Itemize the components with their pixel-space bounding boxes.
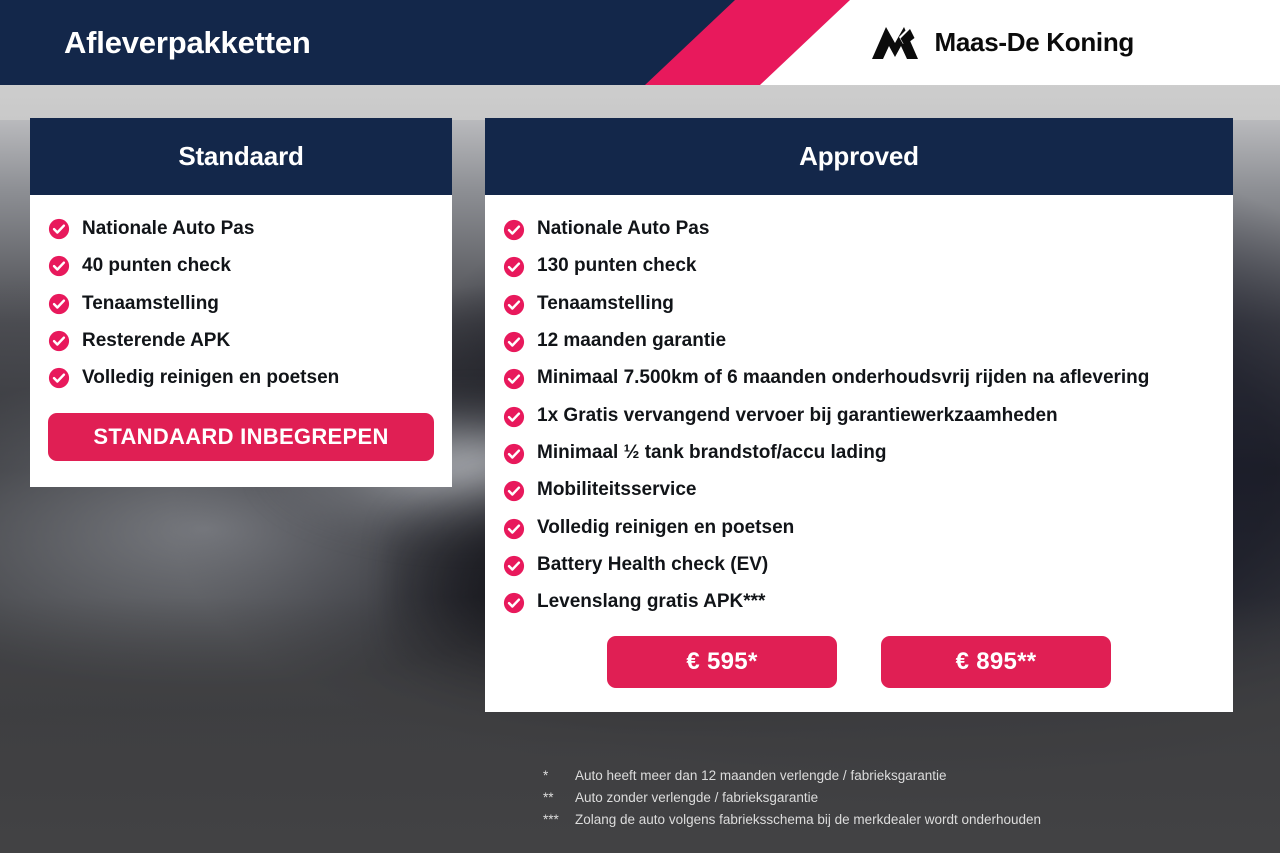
check-circle-icon (503, 406, 525, 428)
feature-item: Tenaamstelling (48, 292, 434, 316)
check-circle-icon (48, 255, 70, 277)
package-card-standaard: Standaard Nationale Auto Pas40 punten ch… (30, 118, 452, 487)
feature-label: Volledig reinigen en poetsen (537, 516, 794, 540)
feature-label: Levenslang gratis APK*** (537, 590, 765, 614)
footnote-row: ***Zolang de auto volgens fabrieksschema… (543, 809, 1243, 831)
feature-label: 1x Gratis vervangend vervoer bij garanti… (537, 404, 1058, 428)
feature-label: Tenaamstelling (82, 292, 219, 316)
check-circle-icon (48, 367, 70, 389)
check-circle-icon (503, 443, 525, 465)
footnote-marker: * (543, 765, 575, 787)
feature-item: 12 maanden garantie (503, 329, 1215, 353)
feature-item: 40 punten check (48, 254, 434, 278)
feature-item: Tenaamstelling (503, 292, 1215, 316)
feature-item: Levenslang gratis APK*** (503, 590, 1215, 614)
check-circle-icon (503, 480, 525, 502)
feature-label: Resterende APK (82, 329, 230, 353)
feature-item: Resterende APK (48, 329, 434, 353)
footnote-text: Auto heeft meer dan 12 maanden verlengde… (575, 765, 1243, 787)
check-circle-icon (503, 368, 525, 390)
feature-item: Volledig reinigen en poetsen (48, 366, 434, 390)
feature-item: 130 punten check (503, 254, 1215, 278)
card-header-approved: Approved (485, 118, 1233, 195)
card-title-standaard: Standaard (178, 141, 303, 172)
feature-item: Minimaal ½ tank brandstof/accu lading (503, 441, 1215, 465)
check-circle-icon (503, 331, 525, 353)
check-circle-icon (503, 294, 525, 316)
check-circle-icon (503, 518, 525, 540)
feature-label: Mobiliteitsservice (537, 478, 696, 502)
footnote-text: Auto zonder verlengde / fabrieksgarantie (575, 787, 1243, 809)
feature-label: Nationale Auto Pas (537, 217, 709, 241)
feature-item: 1x Gratis vervangend vervoer bij garanti… (503, 404, 1215, 428)
feature-label: 40 punten check (82, 254, 231, 278)
feature-item: Nationale Auto Pas (503, 217, 1215, 241)
packages-stage: Standaard Nationale Auto Pas40 punten ch… (0, 0, 1280, 853)
footnotes: *Auto heeft meer dan 12 maanden verlengd… (543, 765, 1243, 831)
feature-item: Battery Health check (EV) (503, 553, 1215, 577)
feature-label: Minimaal 7.500km of 6 maanden onderhouds… (537, 366, 1149, 390)
check-circle-icon (503, 256, 525, 278)
check-circle-icon (48, 330, 70, 352)
feature-label: 12 maanden garantie (537, 329, 726, 353)
card-body-standaard: Nationale Auto Pas40 punten checkTenaams… (30, 195, 452, 487)
price-button-1[interactable]: € 595* (607, 636, 837, 688)
check-circle-icon (48, 293, 70, 315)
footnote-row: *Auto heeft meer dan 12 maanden verlengd… (543, 765, 1243, 787)
check-circle-icon (503, 555, 525, 577)
feature-item: Nationale Auto Pas (48, 217, 434, 241)
price-button-2[interactable]: € 895** (881, 636, 1111, 688)
feature-label: Volledig reinigen en poetsen (82, 366, 339, 390)
feature-item: Minimaal 7.500km of 6 maanden onderhouds… (503, 366, 1215, 390)
standaard-included-button[interactable]: STANDAARD INBEGREPEN (48, 413, 434, 461)
feature-item: Volledig reinigen en poetsen (503, 516, 1215, 540)
card-title-approved: Approved (799, 141, 919, 172)
footnote-marker: *** (543, 809, 575, 831)
card-header-standaard: Standaard (30, 118, 452, 195)
feature-label: Minimaal ½ tank brandstof/accu lading (537, 441, 886, 465)
footnote-text: Zolang de auto volgens fabrieksschema bi… (575, 809, 1243, 831)
feature-label: Nationale Auto Pas (82, 217, 254, 241)
check-circle-icon (503, 592, 525, 614)
feature-label: Battery Health check (EV) (537, 553, 768, 577)
package-card-approved: Approved Nationale Auto Pas130 punten ch… (485, 118, 1233, 712)
feature-list-standaard: Nationale Auto Pas40 punten checkTenaams… (48, 217, 434, 391)
footnote-marker: ** (543, 787, 575, 809)
check-circle-icon (48, 218, 70, 240)
feature-list-approved: Nationale Auto Pas130 punten checkTenaam… (503, 217, 1215, 614)
price-button-row: € 595*€ 895** (503, 636, 1215, 692)
feature-label: 130 punten check (537, 254, 696, 278)
feature-label: Tenaamstelling (537, 292, 674, 316)
feature-item: Mobiliteitsservice (503, 478, 1215, 502)
footnote-row: **Auto zonder verlengde / fabrieksgarant… (543, 787, 1243, 809)
card-body-approved: Nationale Auto Pas130 punten checkTenaam… (485, 195, 1233, 712)
check-circle-icon (503, 219, 525, 241)
